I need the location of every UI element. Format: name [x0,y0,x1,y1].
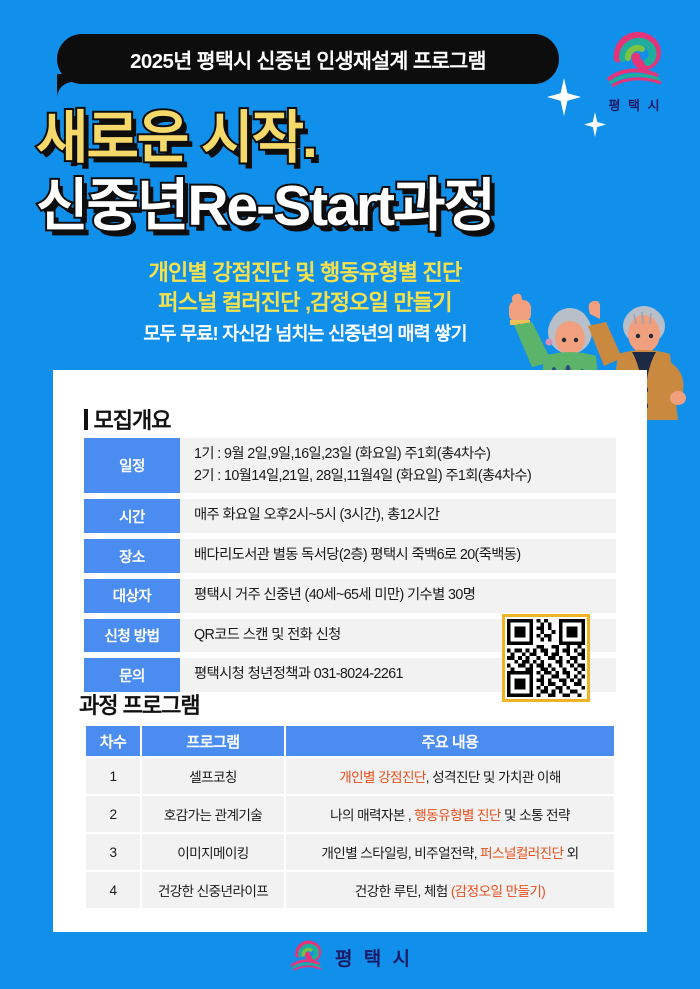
content-highlight: 개인별 강점진단 [339,770,426,785]
cell-content: 나의 매력자본 , 행동유형별 진단 및 소통 전략 [286,796,614,832]
info-row: 장소 배다리도서관 별동 독서당(2층) 평택시 죽백6로 20(죽백동) [84,539,616,573]
table-row: 4 건강한 신중년라이프 건강한 루틴, 체험 (감정오일 만들기) [86,872,614,908]
cell-no: 3 [86,834,140,870]
content-pre: 나의 매력자본 , [330,808,414,823]
footer-logo: 평 택 시 [0,938,700,977]
content-post: 및 소통 전략 [501,808,570,823]
city-logo: 평 택 시 [596,28,674,114]
cell-no: 2 [86,796,140,832]
info-row: 대상자 평택시 거주 신중년 (40세~65세 미만) 기수별 30명 [84,579,616,613]
content-card: 모집개요 일정 1기 : 9월 2일,9일,16일,23일 (화요일) 주1회(… [53,370,647,932]
subtitle-line-1: 개인별 강점진단 및 행동유형별 진단 [0,258,610,288]
cell-content: 건강한 루틴, 체험 (감정오일 만들기) [286,872,614,908]
content-highlight: 행동유형별 진단 [414,808,501,823]
program-heading: 과정 프로그램 [79,688,200,720]
table-header-row: 차수 프로그램 주요 내용 [86,726,614,756]
info-row-label: 대상자 [84,579,180,613]
pyeongtaek-city-emblem-icon [287,938,327,977]
table-row: 1 셀프코칭 개인별 강점진단, 성격진단 및 가치관 이해 [86,758,614,794]
cell-content: 개인별 스타일링, 비주얼전략, 퍼스널컬러진단 외 [286,834,614,870]
table-row: 2 호감가는 관계기술 나의 매력자본 , 행동유형별 진단 및 소통 전략 [86,796,614,832]
content-highlight: 퍼스널컬러진단 [480,846,563,861]
cell-program: 이미지메이킹 [142,834,284,870]
info-row-value: 1기 : 9월 2일,9일,16일,23일 (화요일) 주1회(총4차수) 2기… [180,438,616,493]
info-row-value: 평택시 거주 신중년 (40세~65세 미만) 기수별 30명 [180,579,616,613]
table-row: 3 이미지메이킹 개인별 스타일링, 비주얼전략, 퍼스널컬러진단 외 [86,834,614,870]
info-row-label: 장소 [84,539,180,573]
info-row-label: 일정 [84,438,180,493]
title-line-1: 새로운 시작. [36,108,676,170]
column-header-no: 차수 [86,726,140,756]
cell-no: 4 [86,872,140,908]
cell-program: 호감가는 관계기술 [142,796,284,832]
info-row-value: 매주 화요일 오후2시~5시 (3시간), 총12시간 [180,499,616,533]
cell-no: 1 [86,758,140,794]
cell-program: 셀프코칭 [142,758,284,794]
program-banner-text: 2025년 평택시 신중년 인생재설계 프로그램 [130,44,486,74]
footer-logo-label: 평 택 시 [335,944,413,971]
content-pre: 건강한 루틴, 체험 [355,884,451,899]
heading-bar-icon [84,409,88,430]
info-row-label: 시간 [84,499,180,533]
program-banner: 2025년 평택시 신중년 인생재설계 프로그램 [57,34,559,84]
info-row: 시간 매주 화요일 오후2시~5시 (3시간), 총12시간 [84,499,616,533]
application-qr-code[interactable] [502,614,590,702]
poster-root: 2025년 평택시 신중년 인생재설계 프로그램 평 택 시 새로운 시작. 신… [0,0,700,989]
content-post: 외 [564,846,579,861]
title-line-2: 신중년Re-Start과정 [36,176,676,238]
info-row-value: 배다리도서관 별동 독서당(2층) 평택시 죽백6로 20(죽백동) [180,539,616,573]
content-post: , 성격진단 및 가치관 이해 [426,770,561,785]
column-header-content: 주요 내용 [286,726,614,756]
recruit-heading: 모집개요 [84,403,170,435]
page-title: 새로운 시작. 신중년Re-Start과정 [36,108,676,237]
pyeongtaek-city-emblem-icon [596,28,674,93]
content-pre: 개인별 스타일링, 비주얼전략, [321,846,480,861]
recruit-heading-label: 모집개요 [94,403,171,435]
cell-content: 개인별 강점진단, 성격진단 및 가치관 이해 [286,758,614,794]
program-heading-label: 과정 프로그램 [79,688,200,720]
info-row-value-line: 1기 : 9월 2일,9일,16일,23일 (화요일) 주1회(총4차수) [194,444,616,466]
info-row-label: 문의 [84,658,180,692]
content-highlight: (감정오일 만들기) [451,884,545,899]
info-row-label: 신청 방법 [84,619,180,653]
cell-program: 건강한 신중년라이프 [142,872,284,908]
info-row: 일정 1기 : 9월 2일,9일,16일,23일 (화요일) 주1회(총4차수)… [84,438,616,493]
program-table: 차수 프로그램 주요 내용 1 셀프코칭 개인별 강점진단, 성격진단 및 가치… [84,724,616,910]
info-row-value-line: 2기 : 10월14일,21일, 28일,11월4일 (화요일) 주1회(총4차… [194,466,616,488]
column-header-program: 프로그램 [142,726,284,756]
